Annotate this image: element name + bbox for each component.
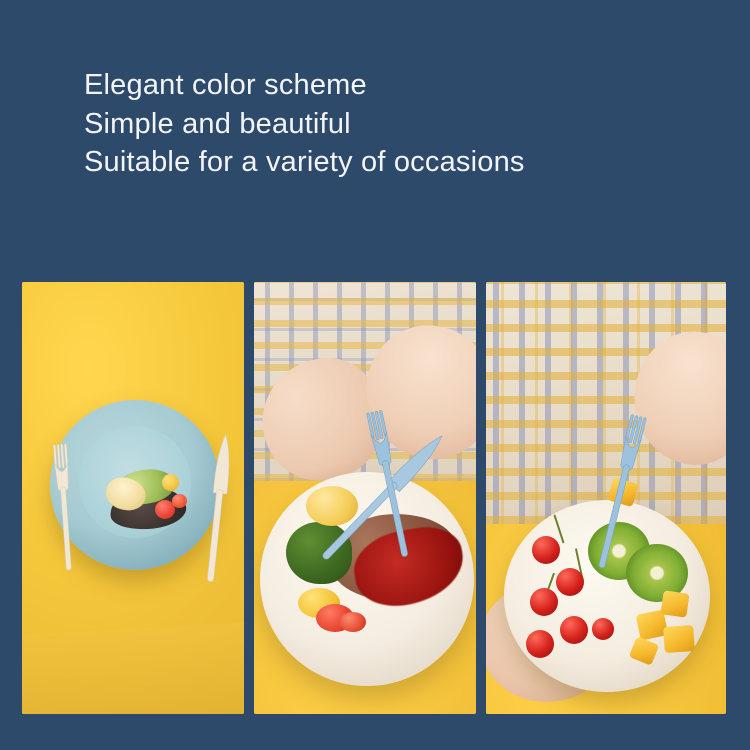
headline-line-2: Simple and beautiful [84, 105, 525, 144]
headline-block: Elegant color scheme Simple and beautifu… [84, 66, 525, 182]
photo-steak-cutting [254, 282, 476, 714]
cherry [532, 536, 560, 564]
cherry [560, 616, 588, 644]
table-edge-shadow [22, 620, 244, 714]
photo-plate-rice-salad [22, 282, 244, 714]
headline-line-3: Suitable for a variety of occasions [84, 143, 525, 182]
red-cherry-tomato-slice [172, 494, 187, 508]
photo-fruit-plate [486, 282, 726, 714]
red-pepper-slice-small [340, 612, 366, 632]
headline-line-1: Elegant color scheme [84, 66, 525, 105]
cherry [530, 588, 558, 616]
cherry [556, 568, 584, 596]
mango-cube [663, 625, 695, 653]
photo-strip [0, 282, 750, 714]
mango-cube [660, 590, 689, 617]
yellow-cherry-tomato [162, 474, 179, 491]
poster-canvas: Elegant color scheme Simple and beautifu… [0, 0, 750, 750]
cherry [592, 618, 614, 640]
cherry [526, 630, 554, 658]
